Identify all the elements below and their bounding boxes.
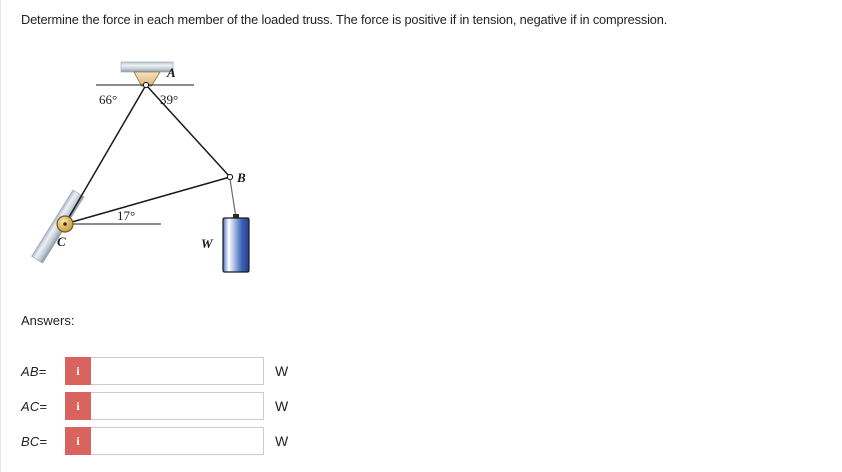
roller-center-dot bbox=[63, 222, 67, 226]
info-icon-ab[interactable]: i bbox=[65, 357, 91, 385]
answer-label-bc-text: BC bbox=[21, 434, 39, 449]
answer-unit-ab: W bbox=[275, 363, 288, 379]
joint-b-node bbox=[227, 174, 232, 179]
answer-input-ac[interactable] bbox=[91, 393, 263, 419]
label-angle-c: 17° bbox=[117, 208, 135, 223]
truss-figure: A B C W 66° 39° 17° bbox=[1, 48, 301, 288]
weight-block bbox=[223, 218, 249, 272]
label-angle-a-left: 66° bbox=[99, 92, 117, 107]
answer-label-ac-text: AC bbox=[21, 399, 39, 414]
question-prompt: Determine the force in each member of th… bbox=[21, 11, 833, 28]
answer-label-bc: BC= bbox=[21, 434, 65, 449]
member-bc bbox=[65, 177, 230, 224]
answer-row-bc: BC= i W bbox=[21, 427, 288, 455]
info-icon-bc[interactable]: i bbox=[65, 427, 91, 455]
answer-label-ab-text: AB bbox=[21, 364, 39, 379]
info-icon-ac[interactable]: i bbox=[65, 392, 91, 420]
answer-row-ab: AB= i W bbox=[21, 357, 288, 385]
answer-label-ac: AC= bbox=[21, 399, 65, 414]
label-joint-c: C bbox=[57, 234, 66, 249]
answer-field-group-bc: i bbox=[65, 427, 264, 455]
answer-label-ab-equals: = bbox=[39, 364, 47, 379]
answer-unit-ac: W bbox=[275, 398, 288, 414]
ceiling-support-bar bbox=[121, 62, 173, 72]
answer-input-bc[interactable] bbox=[91, 428, 263, 454]
answer-field-group-ab: i bbox=[65, 357, 264, 385]
label-angle-a-right: 39° bbox=[160, 92, 178, 107]
answer-unit-bc: W bbox=[275, 433, 288, 449]
label-weight: W bbox=[201, 236, 214, 251]
answers-heading: Answers: bbox=[21, 313, 74, 328]
answer-input-ab[interactable] bbox=[91, 358, 263, 384]
answer-label-bc-equals: = bbox=[39, 434, 47, 449]
answer-label-ac-equals: = bbox=[39, 399, 47, 414]
label-joint-b: B bbox=[236, 170, 246, 185]
truss-svg: A B C W 66° 39° 17° bbox=[1, 48, 301, 288]
member-ab bbox=[146, 85, 230, 177]
answer-field-group-ac: i bbox=[65, 392, 264, 420]
answer-label-ab: AB= bbox=[21, 364, 65, 379]
answer-row-ac: AC= i W bbox=[21, 392, 288, 420]
cord-b-to-weight bbox=[230, 179, 236, 218]
label-joint-a: A bbox=[166, 65, 176, 80]
joint-a-node bbox=[143, 82, 148, 87]
